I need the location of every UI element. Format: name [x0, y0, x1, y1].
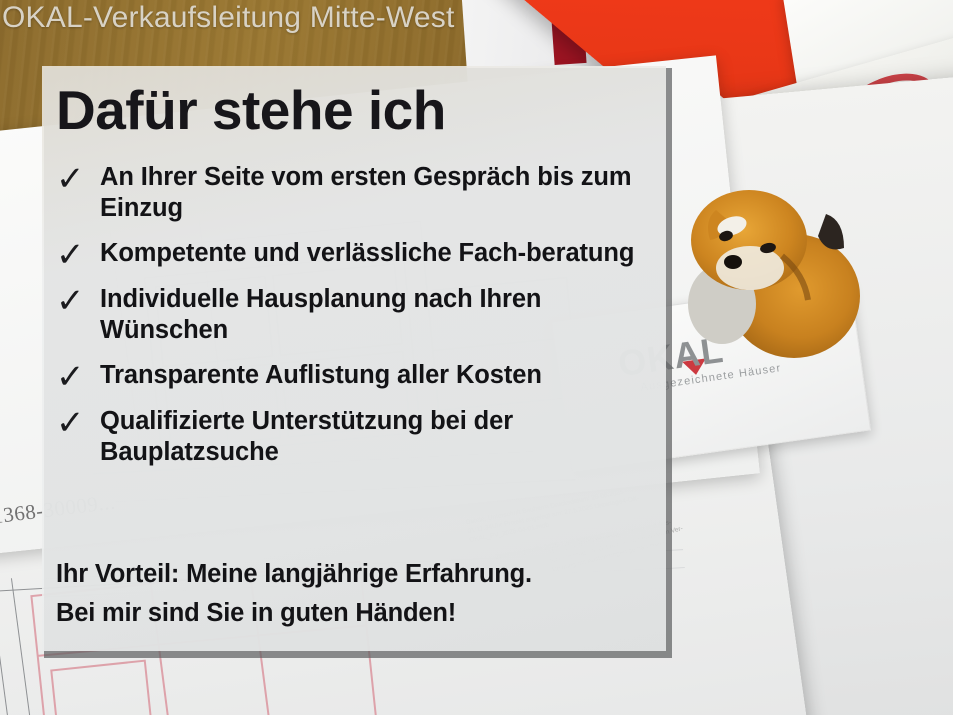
- list-item: ✓ Qualifizierte Unterstützung bei der Ba…: [56, 406, 654, 468]
- list-item-label: Qualifizierte Unterstützung bei der Baup…: [100, 406, 654, 468]
- list-item-label: Transparente Auflistung aller Kosten: [100, 360, 654, 391]
- list-item: ✓ An Ihrer Seite vom ersten Gespräch bis…: [56, 162, 654, 224]
- checkmark-icon: ✓: [56, 360, 100, 392]
- list-item-label: Individuelle Hausplanung nach Ihren Wüns…: [100, 284, 654, 346]
- list-item: ✓ Individuelle Hausplanung nach Ihren Wü…: [56, 284, 654, 346]
- list-item: ✓ Transparente Auflistung aller Kosten: [56, 360, 654, 392]
- list-item-label: An Ihrer Seite vom ersten Gespräch bis z…: [100, 162, 654, 224]
- checkmark-icon: ✓: [56, 162, 100, 194]
- checkmark-icon: ✓: [56, 284, 100, 316]
- checkmark-icon: ✓: [56, 406, 100, 438]
- list-item: ✓ Kompetente und verlässliche Fach-berat…: [56, 238, 654, 270]
- list-item-label: Kompetente und verlässliche Fach-beratun…: [100, 238, 654, 269]
- closing-line-1: Ihr Vorteil: Meine langjährige Erfahrung…: [56, 558, 656, 591]
- closing-line-2: Bei mir sind Sie in guten Händen!: [56, 597, 656, 630]
- checkmark-icon: ✓: [56, 238, 100, 270]
- panel-heading: Dafür stehe ich: [56, 78, 446, 142]
- slide-canvas: 15.03. – 31.12.2025 OKAL Ausgezeichnete …: [0, 0, 953, 715]
- closing-statement: Ihr Vorteil: Meine langjährige Erfahrung…: [56, 558, 656, 636]
- benefits-list: ✓ An Ihrer Seite vom ersten Gespräch bis…: [56, 162, 654, 482]
- page-title: OKAL-Verkaufsleitung Mitte-West: [2, 1, 455, 35]
- benefits-panel: Dafür stehe ich ✓ An Ihrer Seite vom ers…: [42, 66, 666, 651]
- fox-plush-toy: [686, 178, 866, 368]
